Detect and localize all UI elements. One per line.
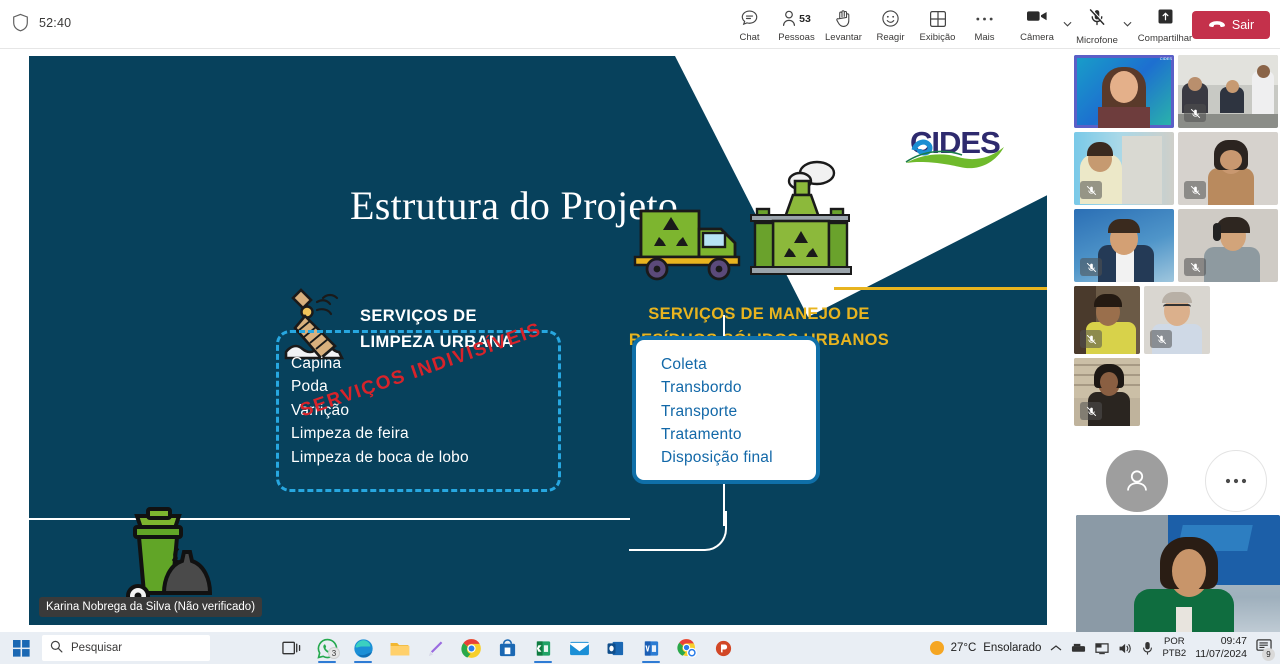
participant-tile-8[interactable] xyxy=(1144,286,1210,354)
meeting-stage: CIDES Estrutura do Projeto xyxy=(0,49,1068,624)
share-label: Compartilhar xyxy=(1138,33,1192,44)
list-item: Limpeza de feira xyxy=(291,422,469,445)
microsoft-edge-icon[interactable] xyxy=(346,633,380,663)
chrome-secondary-icon[interactable] xyxy=(670,633,704,663)
more-ellipsis-icon xyxy=(975,8,994,29)
weather-widget[interactable]: 27°C Ensolarado xyxy=(930,641,1042,655)
list-item: Transbordo xyxy=(661,376,773,399)
participant-tile-3[interactable] xyxy=(1074,132,1174,205)
participant-tile-9[interactable] xyxy=(1074,358,1140,426)
shield-icon xyxy=(12,13,29,32)
meeting-info-group: 52:40 xyxy=(12,13,71,32)
system-tray: 27°C Ensolarado POR PTB2 xyxy=(930,635,1280,661)
mic-off-icon xyxy=(1184,258,1206,276)
meeting-toolbar: 52:40 Chat 53 Pessoas Levantar xyxy=(0,0,1280,49)
weather-condition: Ensolarado xyxy=(983,642,1041,654)
meeting-timer: 52:40 xyxy=(39,16,71,30)
leave-button[interactable]: Sair xyxy=(1192,11,1270,39)
leave-button-wrap: Sair xyxy=(1192,11,1270,39)
volume-icon[interactable] xyxy=(1118,642,1133,655)
task-view-icon[interactable] xyxy=(274,633,308,663)
people-button[interactable]: 53 Pessoas xyxy=(773,4,820,43)
camera-off-icon xyxy=(1026,8,1048,29)
network-icon[interactable] xyxy=(1071,642,1086,654)
list-item: Disposição final xyxy=(661,446,773,469)
more-label: Mais xyxy=(974,32,994,43)
microphone-label: Microfone xyxy=(1076,35,1118,46)
teams-meeting-window: 52:40 Chat 53 Pessoas Levantar xyxy=(0,0,1280,664)
people-icon: 53 xyxy=(782,8,811,29)
microsoft-store-icon[interactable] xyxy=(490,633,524,663)
avatar xyxy=(1106,450,1168,512)
chevron-up-icon[interactable] xyxy=(1050,644,1062,652)
search-input[interactable]: Pesquisar xyxy=(42,635,210,661)
mic-off-icon xyxy=(1080,258,1102,276)
view-button[interactable]: Exibição xyxy=(914,4,961,43)
list-item: Tratamento xyxy=(661,423,773,446)
participant-roster-panel: CIDES xyxy=(1068,49,1280,624)
mic-off-icon xyxy=(1184,181,1206,199)
leave-label: Sair xyxy=(1232,18,1254,32)
mic-off-icon xyxy=(1080,181,1102,199)
hangup-icon xyxy=(1208,18,1226,32)
right-services-list: Coleta Transbordo Transporte Tratamento … xyxy=(661,353,773,469)
mic-off-icon xyxy=(1080,402,1102,420)
camera-label: Câmera xyxy=(1020,32,1054,43)
clock-time: 09:47 xyxy=(1195,635,1247,648)
more-button[interactable]: Mais xyxy=(961,4,1008,43)
microphone-icon[interactable] xyxy=(1142,641,1153,655)
more-ellipsis-icon xyxy=(1205,450,1267,512)
microsoft-powerpoint-icon[interactable] xyxy=(706,633,740,663)
mic-off-icon xyxy=(1150,330,1172,348)
left-branch-label-line1: SERVIÇOS DE xyxy=(360,303,513,329)
react-button[interactable]: Reagir xyxy=(867,4,914,43)
running-indicator xyxy=(354,661,372,663)
list-item: Coleta xyxy=(661,353,773,376)
chat-icon xyxy=(740,8,759,29)
view-label: Exibição xyxy=(920,32,956,43)
language-line1: POR xyxy=(1162,636,1186,648)
microsoft-outlook-icon[interactable] xyxy=(598,633,632,663)
bottom-connector-curve xyxy=(629,511,727,551)
camera-chevron-down-icon[interactable] xyxy=(1060,9,1074,39)
participant-tile-1[interactable]: CIDES xyxy=(1074,55,1174,128)
running-indicator xyxy=(642,661,660,663)
participant-tiles-grid: CIDES xyxy=(1074,55,1278,426)
windows-taskbar: Pesquisar 3 xyxy=(0,632,1280,664)
share-screen-icon xyxy=(1157,8,1174,30)
whatsapp-icon[interactable]: 3 xyxy=(310,633,344,663)
raise-hand-label: Levantar xyxy=(825,32,862,43)
chat-button[interactable]: Chat xyxy=(726,4,773,43)
share-button[interactable]: Compartilhar xyxy=(1134,4,1196,44)
participant-tile-5[interactable] xyxy=(1074,209,1174,282)
language-indicator[interactable]: POR PTB2 xyxy=(1162,636,1186,660)
language-line2: PTB2 xyxy=(1162,648,1186,660)
monitor-icon[interactable] xyxy=(1095,642,1109,655)
participant-tile-4[interactable] xyxy=(1178,132,1278,205)
clock-date: 11/07/2024 xyxy=(1195,648,1247,661)
notification-center-button[interactable]: 9 xyxy=(1256,638,1272,658)
windows-start-icon[interactable] xyxy=(0,640,42,657)
running-indicator xyxy=(534,661,552,663)
weather-temperature: 27°C xyxy=(951,642,977,654)
shared-presentation-slide[interactable]: CIDES Estrutura do Projeto xyxy=(29,56,1047,625)
device-controls: Câmera Microfone Compartilhar xyxy=(1014,4,1196,46)
microphone-chevron-down-icon[interactable] xyxy=(1120,9,1134,39)
camera-button[interactable]: Câmera xyxy=(1014,4,1060,43)
running-indicator xyxy=(318,661,336,663)
view-layout-icon xyxy=(929,8,947,29)
microphone-button[interactable]: Microfone xyxy=(1074,4,1120,46)
taskbar-app-list: 3 xyxy=(274,633,740,663)
presenter-name-label: Karina Nobrega da Silva (Não verificado) xyxy=(39,597,262,617)
search-icon xyxy=(50,640,63,656)
participant-tile-6[interactable] xyxy=(1178,209,1278,282)
microsoft-word-icon[interactable] xyxy=(634,633,668,663)
paint-icon[interactable] xyxy=(418,633,452,663)
people-label: Pessoas xyxy=(778,32,814,43)
mail-icon[interactable] xyxy=(562,633,596,663)
sunny-icon xyxy=(930,641,944,655)
right-branch-connector-top xyxy=(723,315,725,336)
notification-count: 9 xyxy=(1262,648,1275,661)
cides-logo: CIDES xyxy=(904,119,1024,171)
google-chrome-icon[interactable] xyxy=(454,633,488,663)
mic-off-icon xyxy=(1080,330,1102,348)
whatsapp-badge: 3 xyxy=(328,647,340,659)
yellow-divider-line xyxy=(834,287,1047,290)
right-branch-label-line1: SERVIÇOS DE MANEJO DE xyxy=(624,301,894,327)
list-item: Limpeza de boca de lobo xyxy=(291,446,469,469)
list-item: Transporte xyxy=(661,400,773,423)
file-explorer-icon[interactable] xyxy=(382,633,416,663)
chat-label: Chat xyxy=(739,32,759,43)
meeting-actions: Chat 53 Pessoas Levantar Reagir xyxy=(726,4,1008,43)
participant-tile-2[interactable] xyxy=(1178,55,1278,128)
garbage-truck-and-plant-icon xyxy=(627,159,857,289)
microsoft-excel-icon[interactable] xyxy=(526,633,560,663)
react-label: Reagir xyxy=(877,32,905,43)
microphone-muted-icon xyxy=(1088,8,1106,32)
reactions-smiley-icon xyxy=(881,8,900,29)
search-placeholder: Pesquisar xyxy=(71,642,122,654)
participant-tile-7[interactable] xyxy=(1074,286,1140,354)
people-count: 53 xyxy=(799,13,811,25)
raise-hand-button[interactable]: Levantar xyxy=(820,4,867,43)
raise-hand-icon xyxy=(835,8,852,29)
clock-widget[interactable]: 09:47 11/07/2024 xyxy=(1195,635,1247,661)
mic-off-icon xyxy=(1184,104,1206,122)
